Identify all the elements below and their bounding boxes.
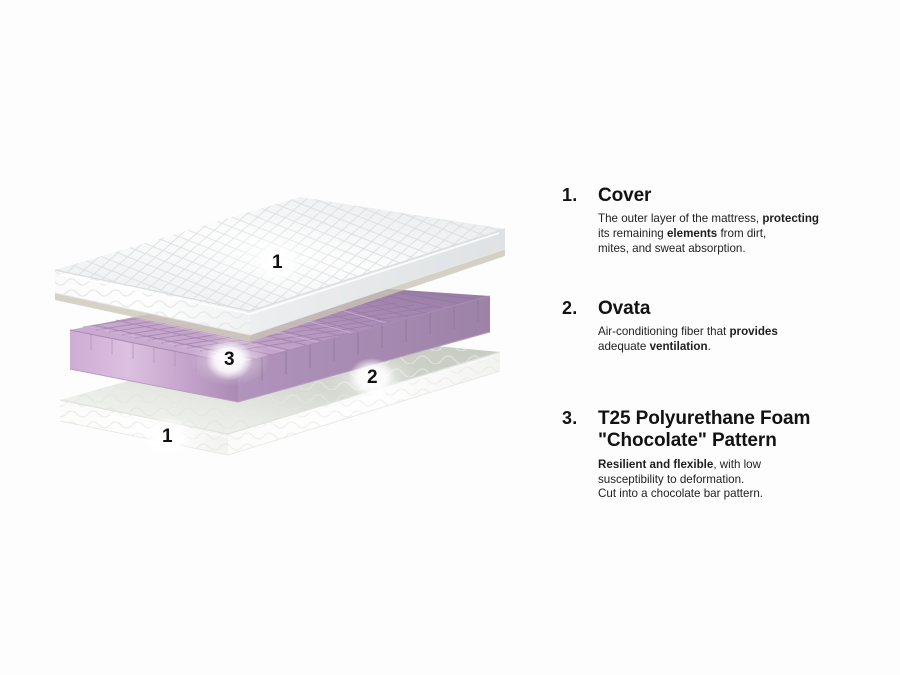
mattress-exploded-diagram: 1 3 2 1 [0,0,545,675]
legend-column: 1. Cover The outer layer of the mattress… [556,0,900,675]
legend-item-3-title: T25 Polyurethane Foam "Chocolate" Patter… [598,408,898,453]
legend-item-3-number: 3. [562,408,577,429]
legend-item-1-title: Cover [598,185,898,207]
mattress-svg [0,0,545,675]
legend-item-1-number: 1. [562,185,577,206]
legend-item-2-description: Air-conditioning fiber that providesadeq… [598,325,898,355]
legend-item-2-number: 2. [562,298,577,319]
diagram-page: 1 3 2 1 1. Cover The outer layer of the … [0,0,900,675]
legend-item-2-title: Ovata [598,298,898,320]
legend-item-1-description: The outer layer of the mattress, protect… [598,212,898,256]
legend-item-3-description: Resilient and flexible, with lowsuscepti… [598,458,898,502]
